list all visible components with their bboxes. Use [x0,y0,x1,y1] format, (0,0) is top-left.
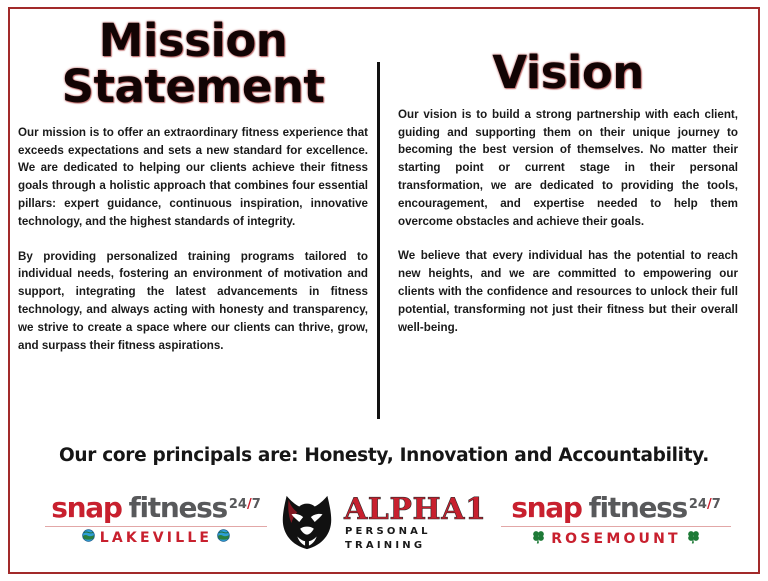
globe-icon [217,529,230,546]
fitness-word: fitness [129,491,227,524]
paragraph-spacer [398,230,738,247]
fitness-word: fitness [589,491,687,524]
alpha1-logo-row: ALPHA1 PERSONAL TRAINING [276,490,492,557]
logo-snap-fitness-lakeville: snapfitness24/7 LAKEVILLE [40,488,272,546]
city-line-lakeville: LAKEVILLE [40,529,272,546]
hours-24-7-badge: 24/7 [689,497,721,512]
mission-body: Our mission is to offer an extraordinary… [18,124,368,355]
hours-numerator: 24 [229,497,247,512]
alpha1-text-block: ALPHA1 PERSONAL TRAINING [344,495,492,553]
poster-page: Mission Statement Our mission is to offe… [0,0,768,581]
hours-24-7-badge: 24/7 [229,497,261,512]
hours-denominator: 7 [712,497,721,512]
snap-word: snap [511,491,581,524]
hours-denominator: 7 [252,497,261,512]
alpha1-subtitle: PERSONAL TRAINING [345,525,492,553]
column-divider [377,62,380,419]
two-column-content: Mission Statement Our mission is to offe… [0,0,768,432]
logo-snap-fitness-rosemount: snapfitness24/7 ROSEMOUNT [496,488,736,548]
globe-icon [82,529,95,546]
mission-paragraph-1: Our mission is to offer an extraordinary… [18,124,368,231]
hours-numerator: 24 [689,497,707,512]
wolf-head-icon [276,490,338,557]
logo-strip: snapfitness24/7 LAKEVILLE [0,488,768,573]
city-name-rosemount: ROSEMOUNT [549,531,683,547]
clover-icon [531,529,546,548]
logo-rule [501,526,731,527]
mission-paragraph-2: By providing personalized training progr… [18,248,368,355]
vision-column: Vision Our vision is to build a strong p… [398,0,738,336]
mission-column: Mission Statement Our mission is to offe… [18,0,368,354]
alpha1-name: ALPHA1 [344,495,492,525]
core-principals-statement: Our core principals are: Honesty, Innova… [0,445,768,466]
snap-fitness-wordmark: snapfitness24/7 [40,488,272,525]
clover-icon [686,529,701,548]
snap-word: snap [51,491,121,524]
vision-heading: Vision [398,50,738,96]
city-name-lakeville: LAKEVILLE [98,530,214,546]
vision-paragraph-2: We believe that every individual has the… [398,247,738,336]
vision-body: Our vision is to build a strong partners… [398,106,738,337]
logo-rule [45,526,268,527]
paragraph-spacer [18,231,368,248]
vision-paragraph-1: Our vision is to build a strong partners… [398,106,738,231]
mission-heading: Mission Statement [18,18,368,110]
snap-fitness-wordmark: snapfitness24/7 [496,488,736,525]
logo-alpha1-personal-training: ALPHA1 PERSONAL TRAINING [276,488,492,557]
city-line-rosemount: ROSEMOUNT [496,529,736,548]
